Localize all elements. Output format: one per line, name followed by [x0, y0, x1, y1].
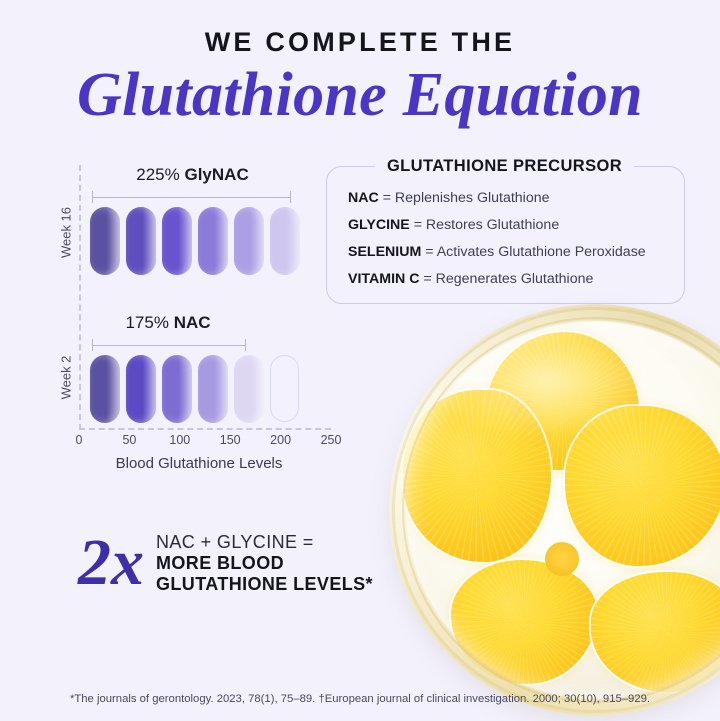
chart-capsule	[162, 355, 192, 423]
chart-capsule	[270, 355, 299, 422]
x-tick-label: 250	[321, 433, 342, 447]
nac-percent: 175%	[125, 313, 168, 332]
axis-label-week16: Week 16	[59, 193, 74, 273]
glynac-name: GlyNAC	[184, 165, 248, 184]
x-tick-label: 0	[76, 433, 83, 447]
bracket-label-nac: 175% NAC	[92, 313, 244, 333]
chart-x-axis	[79, 428, 331, 430]
glynac-percent: 225%	[136, 165, 179, 184]
precursor-list: NAC = Replenishes GlutathioneGLYCINE = R…	[348, 190, 678, 298]
axis-label-week2: Week 2	[59, 338, 74, 418]
chart-capsule	[90, 355, 120, 423]
precursor-term: NAC	[348, 190, 379, 206]
bracket-label-glynac: 225% GlyNAC	[94, 165, 291, 185]
x-tick-label: 100	[169, 433, 190, 447]
precursor-item: GLYCINE = Restores Glutathione	[348, 217, 678, 233]
nac-name: NAC	[174, 313, 211, 332]
precursor-item: VITAMIN C = Regenerates Glutathione	[348, 271, 678, 287]
chart-y-axis	[79, 165, 81, 430]
precursor-term: GLYCINE	[348, 217, 410, 233]
glutathione-chart: Week 16 Week 2 225% GlyNAC 175% NAC 0501…	[34, 165, 334, 470]
precursor-term: VITAMIN C	[348, 271, 419, 287]
precursor-item: NAC = Replenishes Glutathione	[348, 190, 678, 206]
callout-lines: NAC + GLYCINE = MORE BLOOD GLUTATHIONE L…	[156, 532, 373, 595]
page-title: Glutathione Equation	[0, 60, 720, 131]
chart-capsule	[270, 207, 300, 275]
multiplier-value: 2x	[78, 532, 144, 595]
precursor-definition: = Restores Glutathione	[410, 217, 559, 233]
multiplier-callout: 2x NAC + GLYCINE = MORE BLOOD GLUTATHION…	[78, 532, 373, 595]
x-axis-title: Blood Glutathione Levels	[54, 455, 344, 472]
callout-line-1: NAC + GLYCINE =	[156, 532, 373, 553]
kicker-text: WE COMPLETE THE	[0, 27, 720, 58]
petri-dish-image	[395, 310, 720, 721]
precursor-definition: = Replenishes Glutathione	[379, 190, 550, 206]
x-axis-ticks: 050100150200250	[79, 433, 339, 451]
x-tick-label: 50	[122, 433, 136, 447]
precursor-box-title: GLUTATHIONE PRECURSOR	[326, 157, 683, 176]
chart-capsule	[126, 355, 156, 423]
precursor-definition: = Regenerates Glutathione	[419, 271, 593, 287]
chart-capsule	[162, 207, 192, 275]
infographic-canvas: WE COMPLETE THE Glutathione Equation Wee…	[0, 0, 720, 721]
chart-capsule	[126, 207, 156, 275]
chart-capsule	[90, 207, 120, 275]
chart-capsule	[234, 355, 264, 423]
x-tick-label: 150	[220, 433, 241, 447]
footnote: *The journals of gerontology. 2023, 78(1…	[0, 693, 720, 705]
bar-week2	[90, 355, 299, 423]
bracket-nac	[92, 339, 246, 351]
chart-capsule	[234, 207, 264, 275]
chart-capsule	[198, 355, 228, 423]
x-tick-label: 200	[270, 433, 291, 447]
precursor-item: SELENIUM = Activates Glutathione Peroxid…	[348, 244, 678, 260]
precursor-definition: = Activates Glutathione Peroxidase	[421, 244, 645, 260]
bracket-glynac	[92, 191, 291, 203]
bar-week16	[90, 207, 300, 275]
precursor-term: SELENIUM	[348, 244, 421, 260]
callout-line-2: MORE BLOOD	[156, 553, 373, 574]
chart-capsule	[198, 207, 228, 275]
callout-line-3: GLUTATHIONE LEVELS*	[156, 574, 373, 595]
